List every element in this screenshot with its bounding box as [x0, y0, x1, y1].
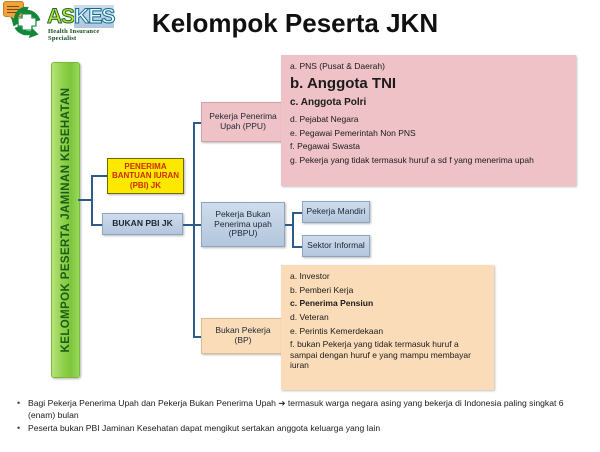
- list-item: e. Perintis Kemerdekaan: [290, 326, 487, 337]
- list-item: f. Pegawai Swasta: [290, 141, 569, 152]
- connector-banner-stem: [78, 199, 92, 201]
- list-ppu: a. PNS (Pusat & Daerah) b. Anggota TNI c…: [281, 55, 576, 186]
- note-item: Bagi Pekerja Penerima Upah dan Pekerja B…: [14, 398, 592, 421]
- list-item: b. Anggota TNI: [290, 75, 569, 94]
- list-item: a. Investor: [290, 271, 487, 282]
- vertical-banner: KELOMPOK PESERTA JAMINAN KESEHATAN: [51, 62, 80, 378]
- box-pekerja-mandiri[interactable]: Pekerja Mandiri: [302, 201, 370, 223]
- connector-root-spine: [91, 175, 93, 225]
- list-item: f. bukan Pekerja yang tidak termasuk hur…: [290, 339, 487, 371]
- notes-list: Bagi Pekerja Penerima Upah dan Pekerja B…: [14, 398, 592, 437]
- box-sektor-informal[interactable]: Sektor Informal: [302, 235, 370, 257]
- box-pbi-line2: BANTUAN IURAN: [112, 171, 179, 180]
- list-bp: a. Investor b. Pemberi Kerja c. Penerima…: [281, 265, 494, 390]
- list-item: a. PNS (Pusat & Daerah): [290, 61, 569, 72]
- logo-wordmark: ASKES: [47, 5, 114, 29]
- list-item: d. Veteran: [290, 312, 487, 323]
- list-item: c. Anggota Polri: [290, 97, 569, 110]
- box-pbi-jk[interactable]: PENERIMA BANTUAN IURAN (PBI) JK: [107, 158, 184, 194]
- slide-canvas: ASKES Health Insurance Specialist Kelomp…: [0, 0, 600, 452]
- box-sektor-informal-label: Sektor Informal: [307, 241, 365, 251]
- list-item: g. Pekerja yang tidak termasuk huruf a s…: [290, 155, 569, 166]
- box-pbi-line3: (PBI) JK: [112, 181, 179, 190]
- box-ppu-line2: Upah (PPU): [209, 122, 277, 132]
- box-bukan-pbi-jk[interactable]: BUKAN PBI JK: [102, 213, 183, 235]
- box-pbpu[interactable]: Pekerja Bukan Penerima upah (PBPU): [201, 202, 285, 247]
- connector-pbpu-spine: [292, 212, 294, 248]
- list-item: b. Pemberi Kerja: [290, 285, 487, 296]
- recycle-cross-icon: [9, 5, 45, 39]
- box-bukan-pbi-label: BUKAN PBI JK: [112, 219, 172, 229]
- list-item: e. Pegawai Pemerintah Non PNS: [290, 128, 569, 139]
- connector-to-pbi: [91, 175, 108, 177]
- box-pbpu-line3: (PBPU): [214, 229, 272, 239]
- askes-logo: ASKES Health Insurance Specialist: [3, 1, 121, 41]
- box-bp-line2: (BP): [215, 336, 270, 346]
- logo-tagline: Health Insurance Specialist: [48, 28, 121, 42]
- box-pekerja-mandiri-label: Pekerja Mandiri: [306, 207, 365, 217]
- list-item: d. Pejabat Negara: [290, 114, 569, 125]
- box-pbi-line1: PENERIMA: [112, 162, 179, 171]
- note-item: Peserta bukan PBI Jaminan Kesehatan dapa…: [14, 423, 592, 435]
- vertical-banner-label: KELOMPOK PESERTA JAMINAN KESEHATAN: [60, 88, 72, 353]
- page-title: Kelompok Peserta JKN: [152, 8, 438, 39]
- list-item: c. Penerima Pensiun: [290, 298, 487, 309]
- box-ppu[interactable]: Pekerja Penerima Upah (PPU): [201, 102, 285, 142]
- box-bp[interactable]: Bukan Pekerja (BP): [201, 318, 285, 354]
- connector-category-spine: [193, 122, 195, 337]
